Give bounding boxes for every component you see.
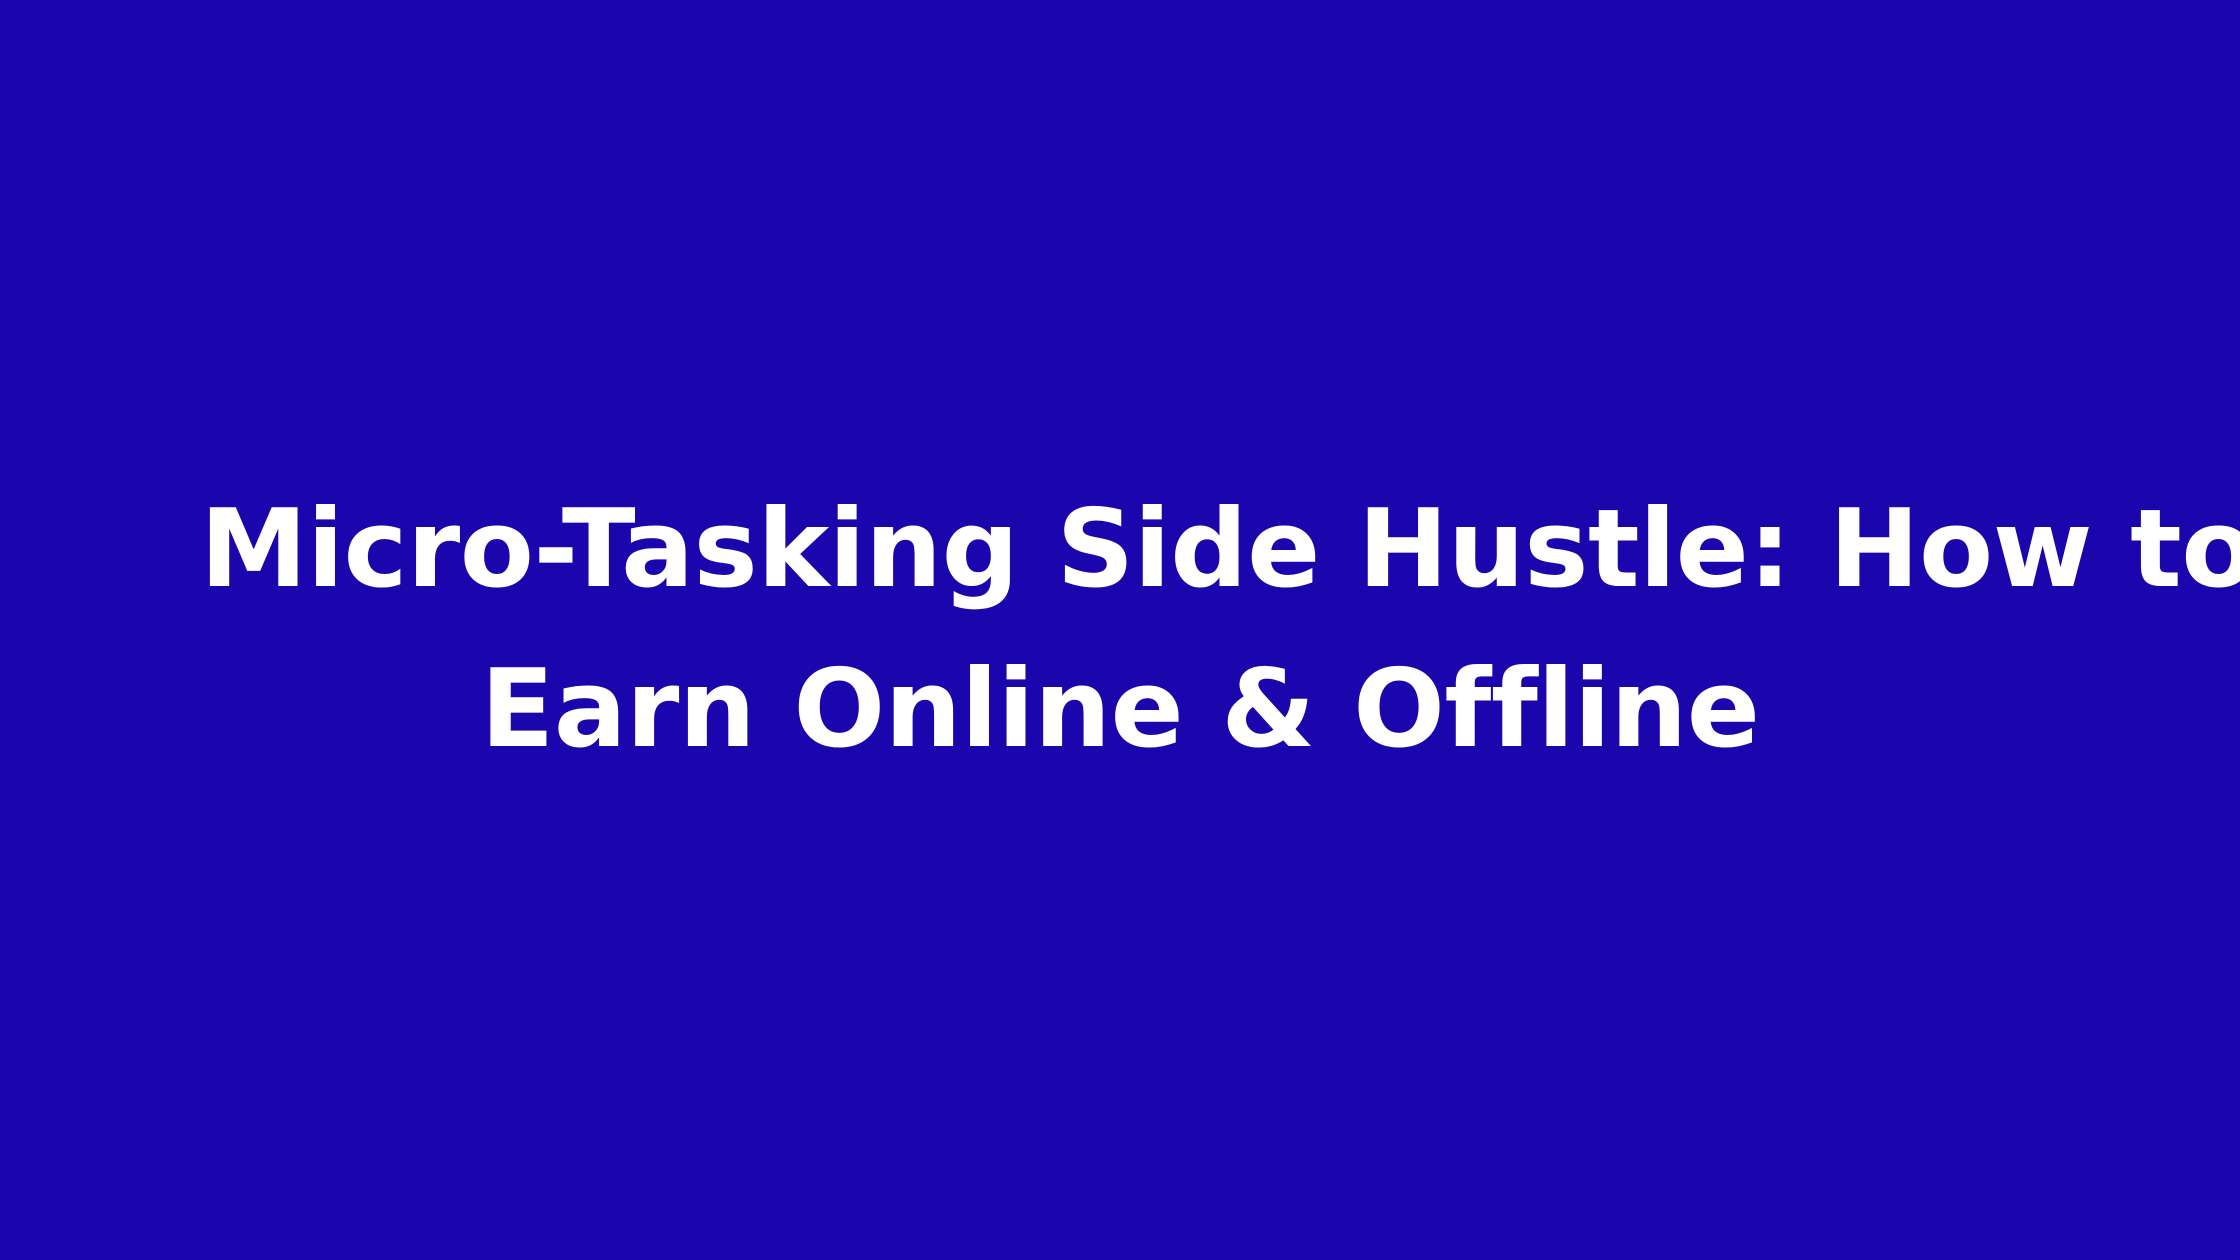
hero-card: Micro-Tasking Side Hustle: How to Earn O… [0, 0, 2240, 1260]
page-title-line-2: Earn Online & Offline [200, 630, 2040, 790]
page-title-line-1: Micro-Tasking Side Hustle: How to [200, 470, 2040, 630]
page-title: Micro-Tasking Side Hustle: How to Earn O… [200, 470, 2040, 790]
hero-title-block: Micro-Tasking Side Hustle: How to Earn O… [140, 470, 2100, 790]
